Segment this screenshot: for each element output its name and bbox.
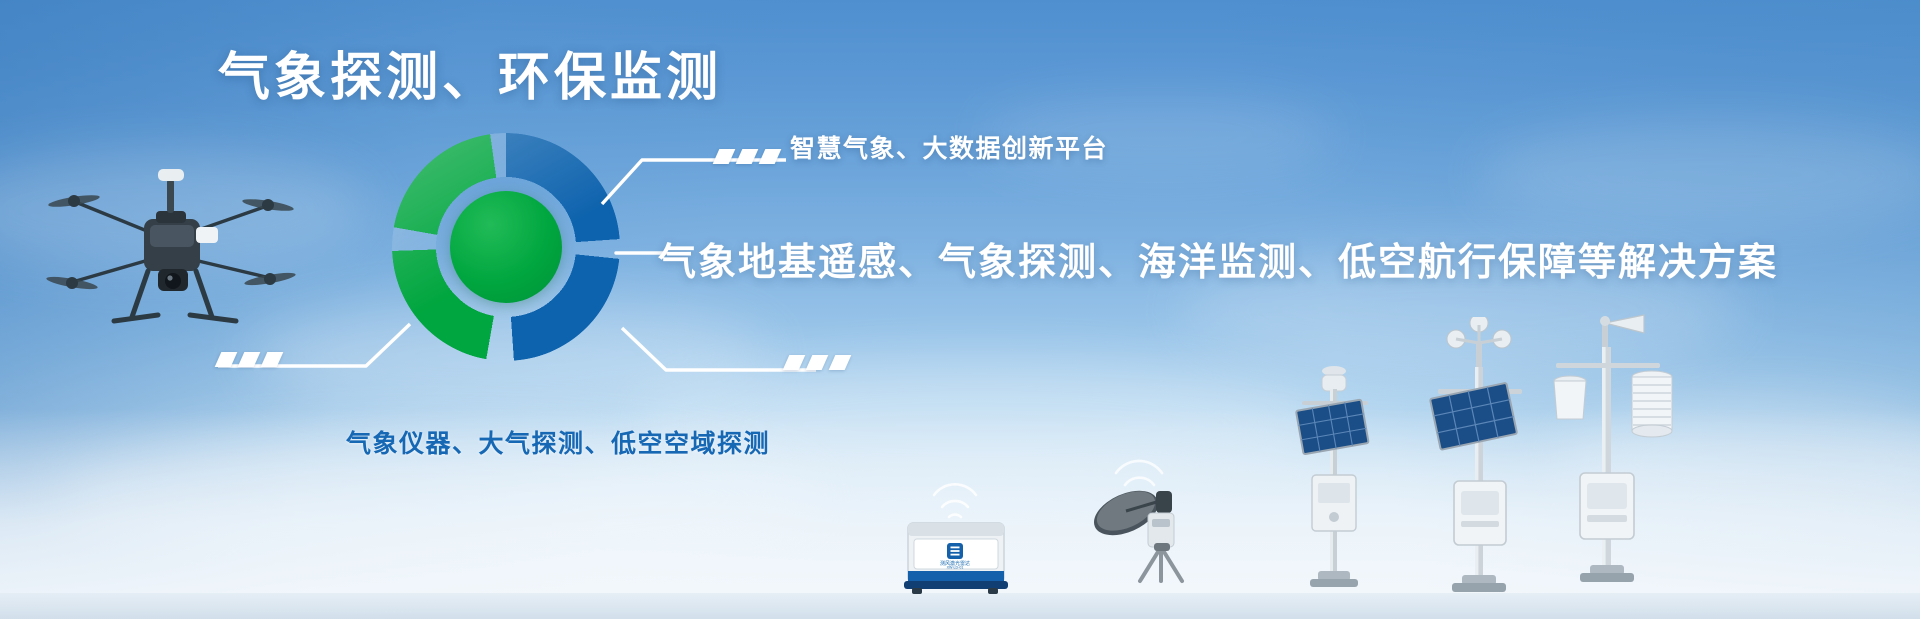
- solar-station-2-icon: [1420, 317, 1540, 597]
- wind-vane: [1600, 315, 1644, 349]
- radar-dish-icon: [1068, 455, 1208, 595]
- chevron-accent-top: [716, 149, 778, 164]
- callout-top-label: 智慧气象、大数据创新平台: [790, 129, 1108, 165]
- radiation-shield: [1632, 371, 1672, 437]
- weather-monitoring-banner: 气象探测、环保监测 智慧气象、大数据创新平台 气象地基遥感、气象探测、海洋监测、…: [0, 0, 1920, 619]
- donut-core-circle: [450, 191, 562, 303]
- lidar-cabinet-icon: 测风激光雷达 XW-LD-01: [890, 467, 1020, 597]
- weather-mast-icon: [1540, 297, 1680, 597]
- callout-main-label: 气象地基遥感、气象探测、海洋监测、低空航行保障等解决方案: [658, 231, 1778, 286]
- solar-station-1-icon: [1282, 365, 1392, 595]
- rain-gauge: [1554, 376, 1586, 419]
- page-title: 气象探测、环保监测: [218, 46, 722, 111]
- cabinet-model-text: XW-LD-01: [947, 566, 964, 570]
- callout-bottom-label: 气象仪器、大气探测、低空空域探测: [346, 424, 770, 460]
- drone-icon: [40, 155, 300, 345]
- donut-diagram: [392, 133, 620, 361]
- anemometer: [1447, 317, 1511, 369]
- chevron-accent-bottom-right: [786, 355, 848, 370]
- chevron-accent-bottom-left: [218, 352, 280, 367]
